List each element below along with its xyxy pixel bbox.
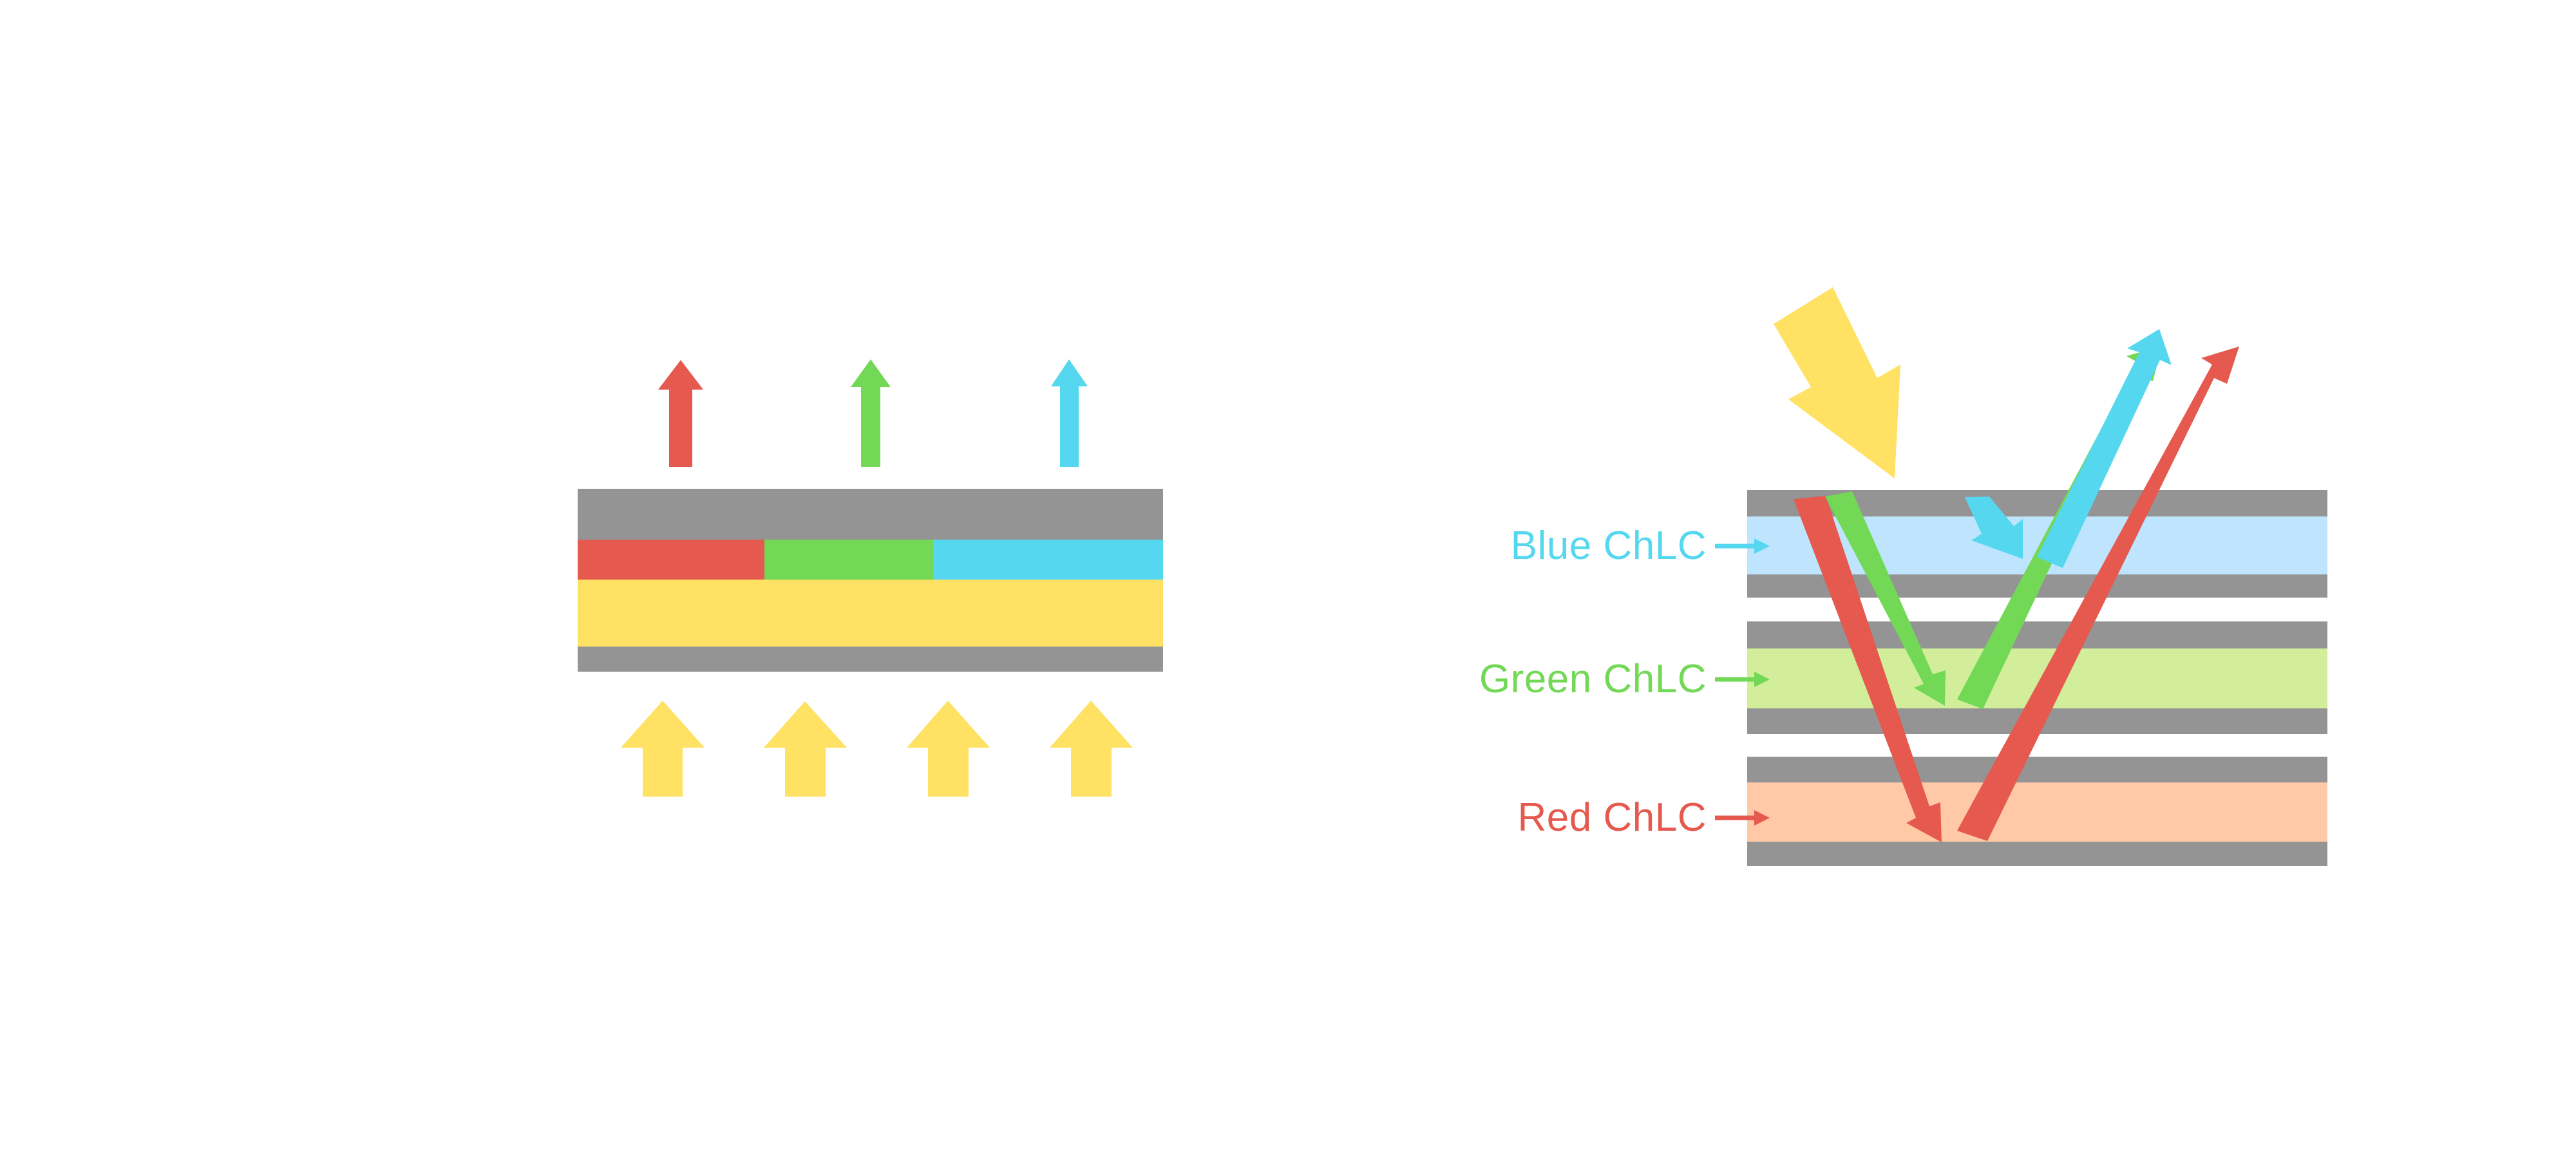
backlight-layer xyxy=(578,580,1163,647)
red-cell-top-electrode xyxy=(1747,757,2327,782)
green-chlc-label: Green ChLC xyxy=(1479,657,1707,701)
blue-filter-segment xyxy=(933,540,1163,580)
color-filter-row xyxy=(578,540,1163,580)
green-cell-top-electrode xyxy=(1747,621,2327,648)
green-filter-segment xyxy=(764,540,933,580)
figure-canvas: Blue ChLC Green ChLC Red ChLC xyxy=(0,0,2576,1154)
red-filter-segment xyxy=(578,540,764,580)
left-panel-layer-stack xyxy=(578,489,1163,672)
red-chlc-label: Red ChLC xyxy=(1518,795,1707,840)
red-chlc-cell xyxy=(1747,757,2327,866)
bottom-electrode xyxy=(578,647,1163,672)
top-electrode xyxy=(578,489,1163,540)
red-chlc-medium xyxy=(1747,782,2327,842)
red-cell-bottom-electrode xyxy=(1747,842,2327,866)
blue-chlc-label: Blue ChLC xyxy=(1511,524,1707,568)
